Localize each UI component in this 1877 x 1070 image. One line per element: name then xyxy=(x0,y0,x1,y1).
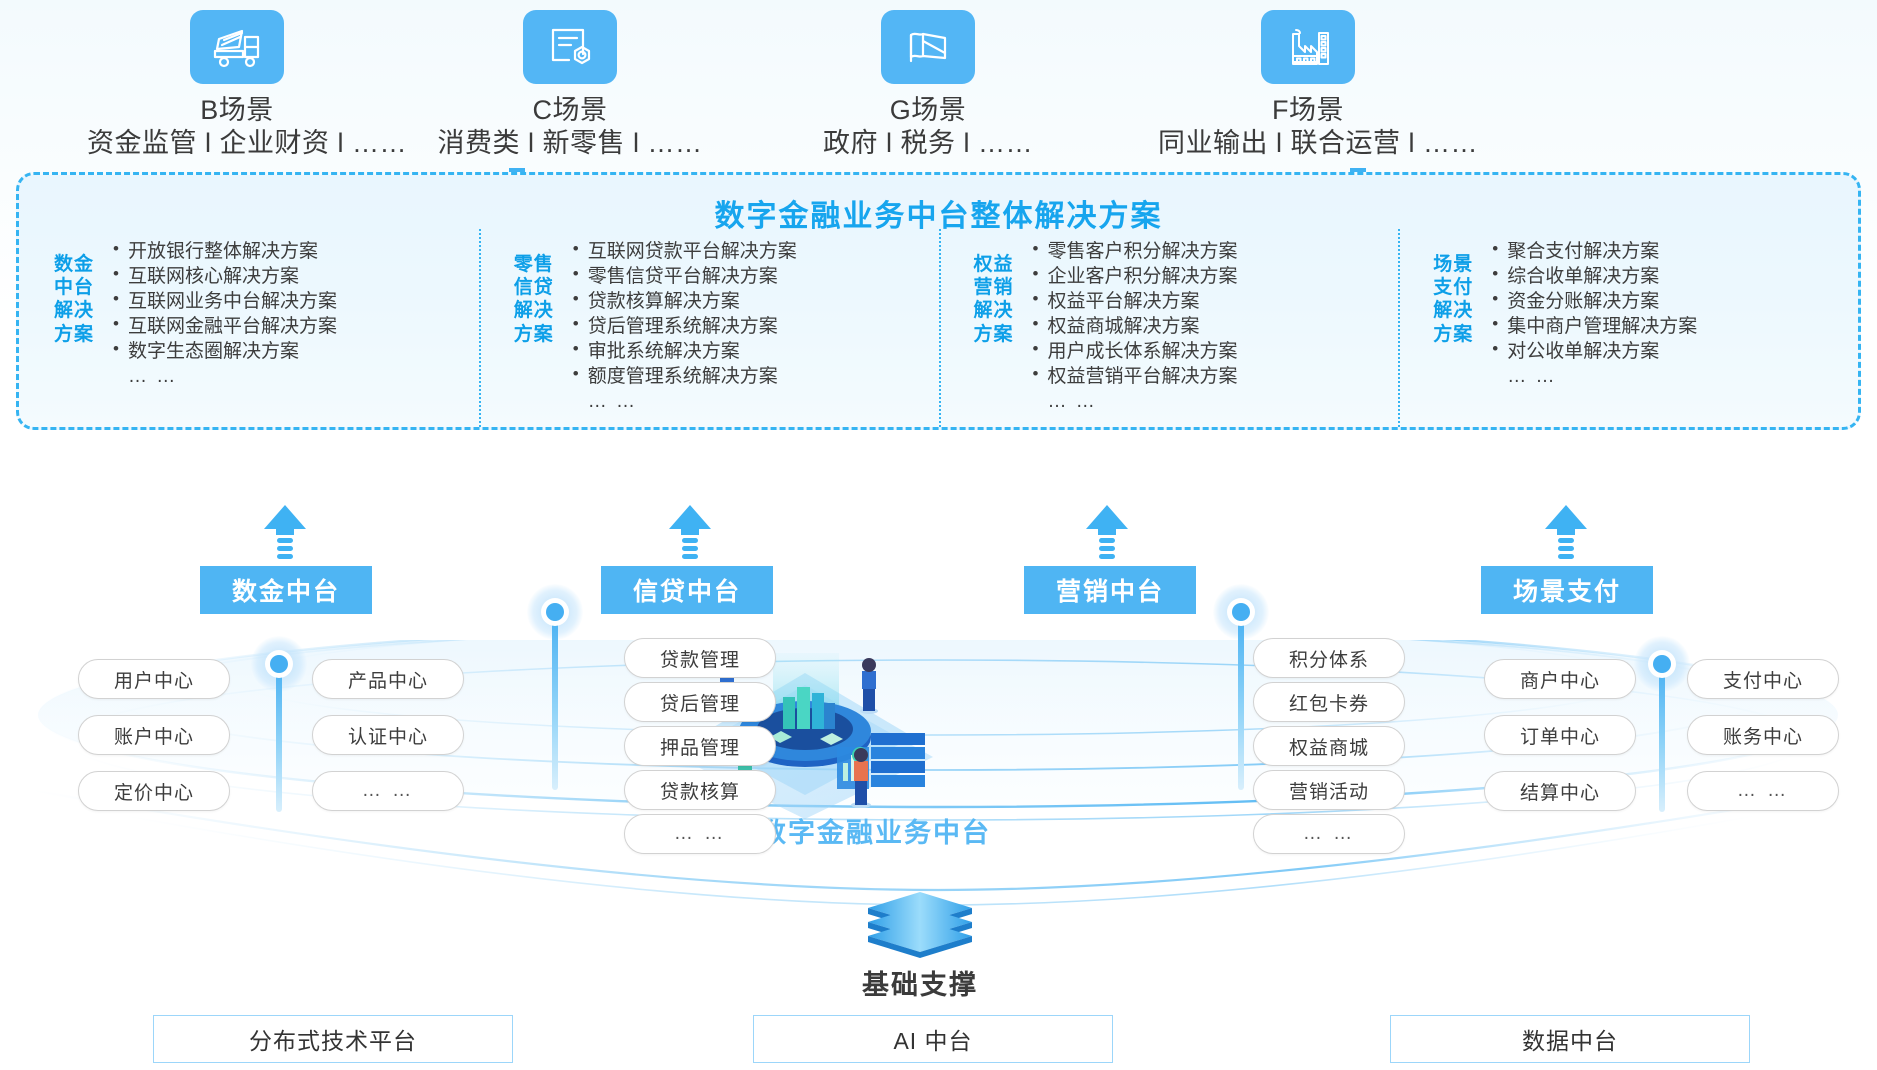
scenario-title: G场景 xyxy=(778,94,1078,127)
chip-user-center[interactable]: 用户中心 xyxy=(78,659,230,699)
foundation-box-distributed-platform[interactable]: 分布式技术平台 xyxy=(153,1015,513,1063)
scenario-c[interactable]: C场景 消费类 l 新零售 l …… xyxy=(420,10,720,161)
list-item: 权益平台解决方案 xyxy=(1033,289,1393,314)
solution-columns: 数金 中台 解决 方案 开放银行整体解决方案 互联网核心解决方案 互联网业务中台… xyxy=(19,233,1858,431)
pin-stem xyxy=(552,610,558,790)
list-ellipsis: … … xyxy=(1033,389,1393,414)
list-item: 零售客户积分解决方案 xyxy=(1033,239,1393,264)
chip-pricing-center[interactable]: 定价中心 xyxy=(78,771,230,811)
scenario-subtitle: 消费类 l 新零售 l …… xyxy=(420,127,720,161)
list-ellipsis: … … xyxy=(1492,364,1852,389)
chip-auth-center[interactable]: 认证中心 xyxy=(312,715,464,755)
list-item: 互联网核心解决方案 xyxy=(113,264,473,289)
chip-order-center[interactable]: 订单中心 xyxy=(1484,715,1636,755)
list-item: 综合收单解决方案 xyxy=(1492,264,1852,289)
scenario-title: F场景 xyxy=(1158,94,1458,127)
list-item: 审批系统解决方案 xyxy=(573,339,933,364)
middle-platform-label: 数字金融业务中台 xyxy=(755,811,995,850)
pin-stem xyxy=(1659,662,1665,812)
list-item: 互联网金融平台解决方案 xyxy=(113,314,473,339)
up-arrow-shujin xyxy=(260,505,310,565)
chip-loan-management[interactable]: 贷款管理 xyxy=(624,638,776,678)
list-item: 企业客户积分解决方案 xyxy=(1033,264,1393,289)
document-verified-icon xyxy=(523,10,617,84)
scenario-g[interactable]: G场景 政府 l 税务 l …… xyxy=(778,10,1078,161)
tag-line: 支付 xyxy=(1424,276,1482,299)
chip-account-center[interactable]: 账户中心 xyxy=(78,715,230,755)
chip-collateral-management[interactable]: 押品管理 xyxy=(624,726,776,766)
tag-line: 方案 xyxy=(965,323,1023,346)
scenario-subtitle: 政府 l 税务 l …… xyxy=(778,127,1078,161)
pin-marker-xindai xyxy=(527,584,583,784)
pin-stem xyxy=(276,662,282,812)
scenario-subtitle: 资金监管 l 企业财资 l …… xyxy=(87,127,387,161)
chip-yingxiao-more[interactable]: … … xyxy=(1253,814,1405,854)
foundation-box-ai-platform[interactable]: AI 中台 xyxy=(753,1015,1113,1063)
list-item: 权益营销平台解决方案 xyxy=(1033,364,1393,389)
flag-map-icon xyxy=(881,10,975,84)
pin-marker-zhifu xyxy=(1634,636,1690,806)
column-tag: 场景 支付 解决 方案 xyxy=(1424,239,1482,346)
column-tag: 零售 信贷 解决 方案 xyxy=(505,239,563,346)
list-item: 用户成长体系解决方案 xyxy=(1033,339,1393,364)
chip-rights-mall[interactable]: 权益商城 xyxy=(1253,726,1405,766)
chip-loan-accounting[interactable]: 贷款核算 xyxy=(624,770,776,810)
platform-label-yingxiao[interactable]: 营销中台 xyxy=(1024,566,1196,614)
solution-list: 互联网贷款平台解决方案 零售信贷平台解决方案 贷款核算解决方案 贷后管理系统解决… xyxy=(563,239,939,415)
tag-line: 解决 xyxy=(1424,299,1482,322)
chip-settlement-center[interactable]: 结算中心 xyxy=(1484,771,1636,811)
list-item: 权益商城解决方案 xyxy=(1033,314,1393,339)
platform-label-xindai[interactable]: 信贷中台 xyxy=(601,566,773,614)
chip-marketing-campaign[interactable]: 营销活动 xyxy=(1253,770,1405,810)
solution-list: 零售客户积分解决方案 企业客户积分解决方案 权益平台解决方案 权益商城解决方案 … xyxy=(1023,239,1399,415)
tag-line: 方案 xyxy=(505,323,563,346)
chip-post-loan-management[interactable]: 贷后管理 xyxy=(624,682,776,722)
list-item: 零售信贷平台解决方案 xyxy=(573,264,933,289)
tag-line: 营销 xyxy=(965,276,1023,299)
chip-zhifu-more[interactable]: … … xyxy=(1687,771,1839,811)
column-tag: 数金 中台 解决 方案 xyxy=(45,239,103,346)
tag-line: 信贷 xyxy=(505,276,563,299)
solution-column-digital-finance: 数金 中台 解决 方案 开放银行整体解决方案 互联网核心解决方案 互联网业务中台… xyxy=(19,233,479,431)
scenarios-row: B场景 资金监管 l 企业财资 l …… C场景 消费类 l 新零售 l …… xyxy=(0,0,1877,172)
layers-stack-icon xyxy=(860,890,980,962)
tag-line: 解决 xyxy=(505,299,563,322)
up-arrow-zhifu xyxy=(1541,505,1591,565)
list-item: 贷后管理系统解决方案 xyxy=(573,314,933,339)
pin-dot xyxy=(1232,603,1250,621)
up-arrow-xindai xyxy=(665,505,715,565)
tag-line: 中台 xyxy=(45,276,103,299)
list-item: 互联网业务中台解决方案 xyxy=(113,289,473,314)
chip-accounting-center[interactable]: 账务中心 xyxy=(1687,715,1839,755)
truck-delivery-icon xyxy=(190,10,284,84)
tag-line: 方案 xyxy=(1424,323,1482,346)
chip-points-system[interactable]: 积分体系 xyxy=(1253,638,1405,678)
factory-icon xyxy=(1261,10,1355,84)
chip-product-center[interactable]: 产品中心 xyxy=(312,659,464,699)
solution-column-scenario-payment: 场景 支付 解决 方案 聚合支付解决方案 综合收单解决方案 资金分账解决方案 集… xyxy=(1398,233,1858,431)
solution-list: 开放银行整体解决方案 互联网核心解决方案 互联网业务中台解决方案 互联网金融平台… xyxy=(103,239,479,389)
pin-dot xyxy=(270,655,288,673)
solution-column-rights-marketing: 权益 营销 解决 方案 零售客户积分解决方案 企业客户积分解决方案 权益平台解决… xyxy=(939,233,1399,431)
list-item: 数字生态圈解决方案 xyxy=(113,339,473,364)
tag-line: 解决 xyxy=(45,299,103,322)
list-ellipsis: … … xyxy=(113,364,473,389)
list-item: 贷款核算解决方案 xyxy=(573,289,933,314)
pin-marker-shujin xyxy=(251,636,307,806)
chip-merchant-center[interactable]: 商户中心 xyxy=(1484,659,1636,699)
pin-dot xyxy=(1653,655,1671,673)
tag-line: 场景 xyxy=(1424,253,1482,276)
list-item: 额度管理系统解决方案 xyxy=(573,364,933,389)
solution-list: 聚合支付解决方案 综合收单解决方案 资金分账解决方案 集中商户管理解决方案 对公… xyxy=(1482,239,1858,389)
scenario-b[interactable]: B场景 资金监管 l 企业财资 l …… xyxy=(87,10,387,161)
tag-line: 解决 xyxy=(965,299,1023,322)
platform-label-shujin[interactable]: 数金中台 xyxy=(200,566,372,614)
list-item: 聚合支付解决方案 xyxy=(1492,239,1852,264)
scenario-title: B场景 xyxy=(87,94,387,127)
column-tag: 权益 营销 解决 方案 xyxy=(965,239,1023,346)
foundation-title: 基础支撑 xyxy=(860,963,980,1002)
pin-dot xyxy=(546,603,564,621)
pin-stem xyxy=(1238,610,1244,790)
scenario-subtitle: 同业输出 l 联合运营 l …… xyxy=(1158,127,1458,161)
tag-line: 零售 xyxy=(505,253,563,276)
list-item: 集中商户管理解决方案 xyxy=(1492,314,1852,339)
chip-payment-center[interactable]: 支付中心 xyxy=(1687,659,1839,699)
tag-line: 权益 xyxy=(965,253,1023,276)
platform-label-zhifu[interactable]: 场景支付 xyxy=(1481,566,1653,614)
solutions-panel: 数字金融业务中台整体解决方案 数金 中台 解决 方案 开放银行整体解决方案 互联… xyxy=(16,172,1861,430)
scenario-title: C场景 xyxy=(420,94,720,127)
diagram-canvas: B场景 资金监管 l 企业财资 l …… C场景 消费类 l 新零售 l …… xyxy=(0,0,1877,1070)
chip-shujin-more[interactable]: … … xyxy=(312,771,464,811)
list-ellipsis: … … xyxy=(573,389,933,414)
list-item: 资金分账解决方案 xyxy=(1492,289,1852,314)
chip-xindai-more[interactable]: … … xyxy=(624,814,776,854)
foundation-box-data-platform[interactable]: 数据中台 xyxy=(1390,1015,1750,1063)
chip-coupon-redpacket[interactable]: 红包卡券 xyxy=(1253,682,1405,722)
list-item: 互联网贷款平台解决方案 xyxy=(573,239,933,264)
tag-line: 方案 xyxy=(45,323,103,346)
list-item: 开放银行整体解决方案 xyxy=(113,239,473,264)
scenario-f[interactable]: F场景 同业输出 l 联合运营 l …… xyxy=(1158,10,1458,161)
list-item: 对公收单解决方案 xyxy=(1492,339,1852,364)
up-arrow-yingxiao xyxy=(1082,505,1132,565)
solution-column-retail-credit: 零售 信贷 解决 方案 互联网贷款平台解决方案 零售信贷平台解决方案 贷款核算解… xyxy=(479,233,939,431)
tag-line: 数金 xyxy=(45,253,103,276)
